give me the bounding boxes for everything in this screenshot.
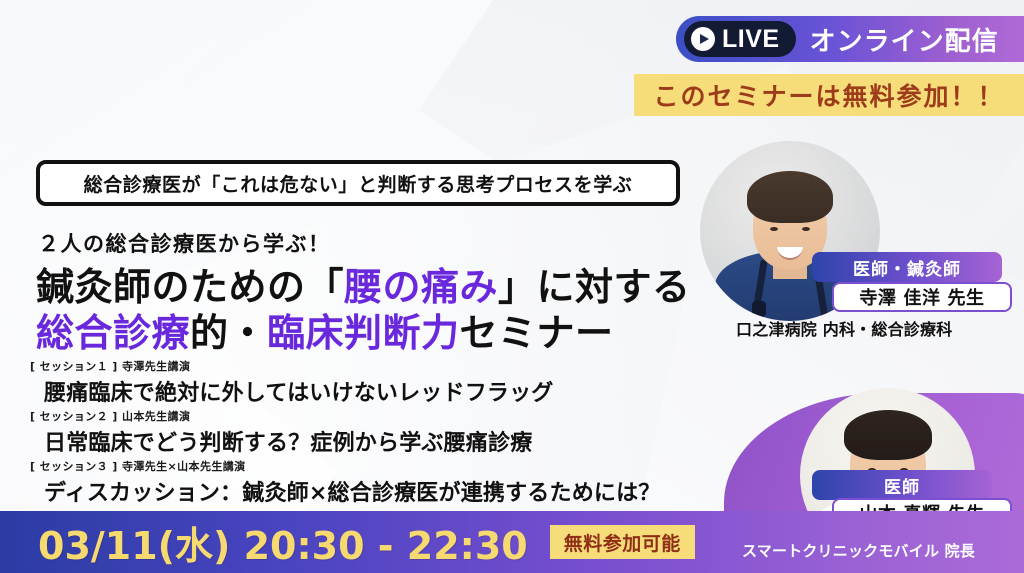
speaker-2-role-badge: 医師 [812,470,992,500]
free-entry-chip-label: 無料参加可能 [564,529,681,556]
session-1-label: [ セッション１ ] 寺澤先生講演 [30,358,554,374]
free-participation-banner: このセミナーは無料参加！！ [634,74,1024,116]
speaker-1-name-badge: 寺澤 佳洋 先生 [832,282,1012,312]
tagline-box: 総合診療医が「これは危ない」と判断する思考プロセスを学ぶ [36,160,680,206]
live-badge: LIVE [684,21,796,57]
speaker-2-affiliation: スマートクリニックモバイル 院長 [742,540,975,561]
title-line2-accent-2: 臨床判断力 [267,311,460,355]
online-stream-label: オンライン配信 [810,21,999,58]
event-date-time: 03/11(水) 20:30 - 22:30 [38,515,528,570]
title-line2-mid: 的・ [190,311,267,355]
session-3-title: ディスカッション：鍼灸師×総合診療医が連携するためには？ [30,475,661,507]
session-2-title: 日常臨床でどう判断する？症例から学ぶ腰痛診療 [30,425,532,457]
session-3-label: [ セッション３ ] 寺澤先生×山本先生講演 [30,458,661,474]
speaker-1-eye-right [802,227,810,231]
title-line2-accent-1: 総合診療 [36,311,190,355]
speaker-1-affiliation: 口之津病院 内科・総合診療科 [736,316,952,340]
tagline-text: 総合診療医が「これは危ない」と判断する思考プロセスを学ぶ [84,170,633,197]
speaker-1-hair [747,171,833,223]
title-line-2: 総合診療的・臨床判断力セミナー [36,302,614,357]
speaker-1-mouth [777,247,803,260]
session-item-2: [ セッション２ ] 山本先生講演 日常臨床でどう判断する？症例から学ぶ腰痛診療 [30,408,532,457]
free-entry-chip: 無料参加可能 [550,525,695,559]
seminar-banner: LIVE オンライン配信 このセミナーは無料参加！！ 総合診療医が「これは危ない… [0,0,1024,573]
title-line2-end: セミナー [460,311,614,355]
speaker-2-hair [844,410,932,460]
free-participation-text: このセミナーは無料参加！！ [653,77,1004,113]
session-item-1: [ セッション１ ] 寺澤先生講演 腰痛臨床で絶対に外してはいけないレッドフラッ… [30,358,554,407]
session-2-label: [ セッション２ ] 山本先生講演 [30,408,532,424]
play-icon [691,27,715,51]
live-badge-label: LIVE [722,27,780,52]
live-stream-banner: LIVE オンライン配信 [676,16,1024,62]
session-item-3: [ セッション３ ] 寺澤先生×山本先生講演 ディスカッション：鍼灸師×総合診療… [30,458,661,507]
title-kicker: ２人の総合診療医から学ぶ！ [38,228,331,258]
speaker-1-role-badge: 医師・鍼灸師 [812,252,1002,282]
stethoscope-bell-icon [752,301,766,317]
session-1-title: 腰痛臨床で絶対に外してはいけないレッドフラッグ [30,375,554,407]
speaker-1-eye-left [770,227,778,231]
